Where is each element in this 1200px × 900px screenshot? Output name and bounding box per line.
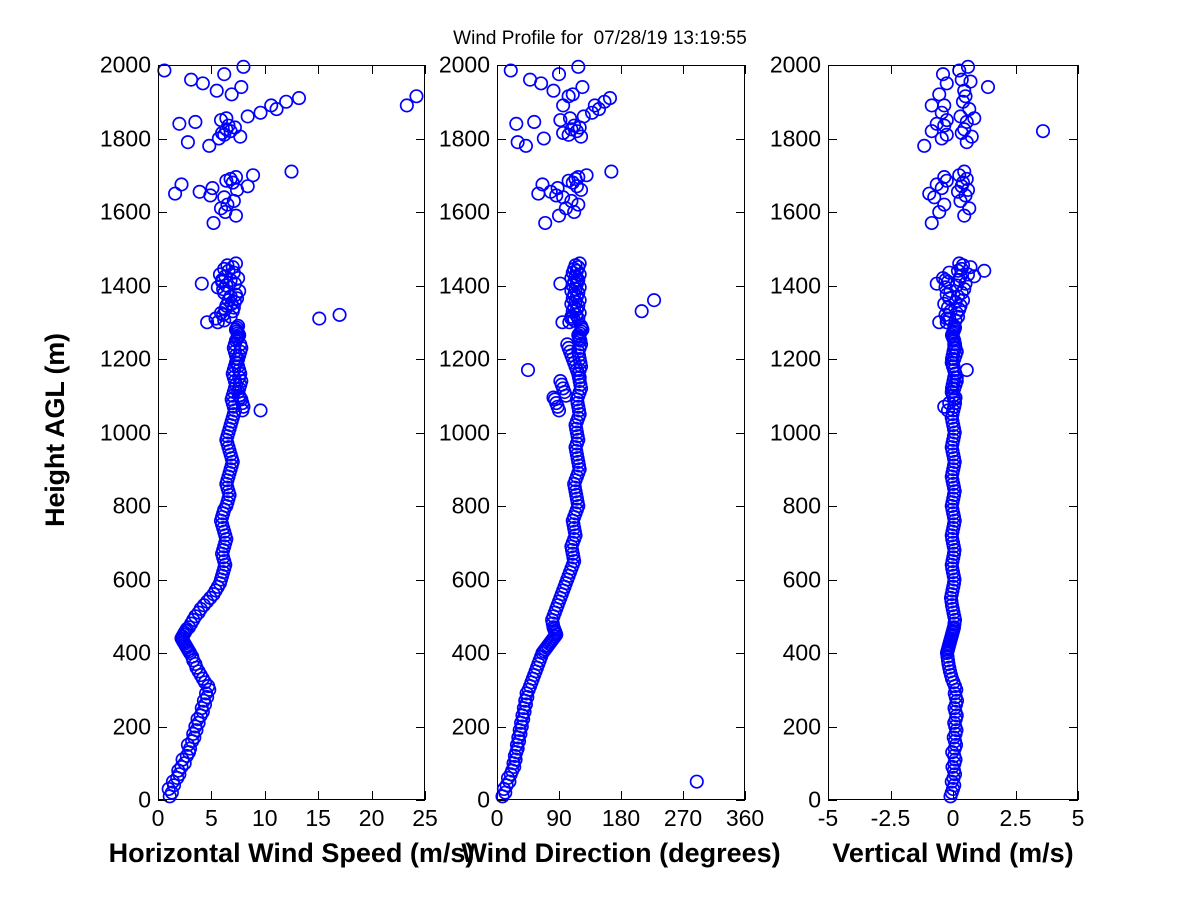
x-axis-label-wind-direction: Wind Direction (degrees) [461,838,780,869]
y-tick-right [736,139,745,140]
data-point [237,61,249,73]
x-tick [953,791,954,800]
data-point [280,96,292,108]
data-point [538,132,550,144]
x-axis-label-horizontal-wind-speed: Horizontal Wind Speed (m/s) [109,838,475,869]
data-point [1037,125,1049,137]
y-tick-label: 0 [138,787,151,814]
data-point [926,99,938,111]
y-tick [158,580,167,581]
y-tick-right [416,727,425,728]
y-tick [158,359,167,360]
y-tick [497,212,506,213]
y-tick [828,800,837,801]
y-tick-label: 200 [452,713,490,740]
y-tick-label: 1000 [439,419,490,446]
y-tick [497,727,506,728]
x-tick [891,791,892,800]
x-tick-top [318,65,319,74]
data-point [539,217,551,229]
y-tick-label: 600 [452,566,490,593]
data-point [185,74,197,86]
y-tick-right [416,139,425,140]
data-point [958,123,970,135]
y-tick-label: 1800 [770,125,821,152]
y-tick [158,65,167,66]
data-point [230,257,242,269]
panel-vertical-wind: Vertical Wind (m/s) 02004006008001000120… [828,65,1078,800]
y-tick-label: 800 [783,493,821,520]
y-tick-right [736,433,745,434]
x-tick-label: 180 [602,805,640,832]
y-tick-label: 1600 [100,199,151,226]
x-tick-top [158,65,159,74]
data-point [505,64,517,76]
data-point [293,92,305,104]
y-tick-label: 1000 [100,419,151,446]
x-tick [745,791,746,800]
data-point [938,171,950,183]
x-tick-top [211,65,212,74]
y-tick-right [416,65,425,66]
y-tick-label: 1200 [100,346,151,373]
x-tick [559,791,560,800]
x-tick [211,791,212,800]
x-tick-label: 2.5 [1000,805,1032,832]
figure-title: Wind Profile for 07/28/19 13:19:55 [0,28,1200,50]
data-point [553,209,565,221]
x-tick-label: 20 [359,805,385,832]
x-tick [683,791,684,800]
x-tick [828,791,829,800]
y-tick-label: 600 [783,566,821,593]
y-tick [828,506,837,507]
y-tick [828,653,837,654]
x-tick-label: 5 [1072,805,1085,832]
y-tick-right [1069,359,1078,360]
y-tick-label: 1400 [439,272,490,299]
y-tick-right [736,212,745,213]
y-tick-label: 400 [783,640,821,667]
y-tick [828,212,837,213]
y-tick [158,286,167,287]
data-point [580,169,592,181]
y-tick [497,65,506,66]
y-tick-label: 1800 [439,125,490,152]
x-tick [372,791,373,800]
data-point [557,99,569,111]
x-tick-top [891,65,892,74]
data-point [333,309,345,321]
y-tick-right [1069,727,1078,728]
x-tick-top [621,65,622,74]
data-point [175,178,187,190]
data-point [189,116,201,128]
data-point [201,595,213,607]
x-tick-top [1016,65,1017,74]
y-tick-right [416,359,425,360]
y-tick [497,506,506,507]
data-point [572,61,584,73]
y-tick-label: 400 [452,640,490,667]
y-tick-label: 600 [113,566,151,593]
x-tick-top [953,65,954,74]
y-tick [828,727,837,728]
x-tick-top [745,65,746,74]
y-tick [828,580,837,581]
y-tick-right [416,286,425,287]
y-tick-label: 2000 [439,52,490,79]
data-point [242,110,254,122]
data-point [926,217,938,229]
data-series-wind-direction [497,65,745,800]
data-point [522,364,534,376]
data-point [169,187,181,199]
y-tick-right [1069,286,1078,287]
y-tick-label: 0 [477,787,490,814]
x-tick-label: 0 [152,805,165,832]
data-point [691,775,703,787]
y-tick [497,653,506,654]
y-tick [158,212,167,213]
data-point [982,81,994,93]
x-tick-top [497,65,498,74]
data-point [211,85,223,97]
y-tick [828,65,837,66]
data-point [173,118,185,130]
y-tick-right [736,286,745,287]
y-tick [158,139,167,140]
data-point [410,90,422,102]
x-tick-top [1078,65,1079,74]
data-point [524,74,536,86]
y-tick-label: 800 [113,493,151,520]
y-tick-right [736,727,745,728]
x-tick-label: 270 [664,805,702,832]
y-tick-label: 1400 [770,272,821,299]
y-tick-right [1069,800,1078,801]
y-tick-right [736,506,745,507]
data-point [182,136,194,148]
y-tick-label: 1200 [439,346,490,373]
y-tick-right [416,580,425,581]
x-tick-top [828,65,829,74]
data-point [285,165,297,177]
y-tick-right [1069,653,1078,654]
data-point [313,312,325,324]
data-point [197,77,209,89]
y-tick-label: 800 [452,493,490,520]
x-tick-label: -5 [818,805,838,832]
x-tick-top [372,65,373,74]
y-tick-right [1069,139,1078,140]
x-tick [158,791,159,800]
y-tick-right [416,653,425,654]
y-tick [497,580,506,581]
y-tick-label: 200 [783,713,821,740]
y-tick [158,727,167,728]
x-tick [318,791,319,800]
y-tick [828,286,837,287]
y-tick-label: 400 [113,640,151,667]
y-tick-label: 1000 [770,419,821,446]
y-tick-label: 2000 [770,52,821,79]
y-tick-right [416,800,425,801]
x-tick-label: 360 [726,805,764,832]
x-axis-label-vertical-wind: Vertical Wind (m/s) [832,838,1073,869]
data-point [206,182,218,194]
x-tick-label: 0 [491,805,504,832]
data-point [918,140,930,152]
x-tick [1016,791,1017,800]
x-tick [621,791,622,800]
y-tick-right [736,359,745,360]
x-tick-label: 0 [947,805,960,832]
y-tick-right [736,65,745,66]
x-tick-label: 90 [546,805,572,832]
data-point [193,186,205,198]
y-tick-label: 1600 [770,199,821,226]
y-tick [828,433,837,434]
wind-profile-figure: Wind Profile for 07/28/19 13:19:55 Heigh… [0,0,1200,900]
data-point [247,169,259,181]
data-point [961,364,973,376]
data-point [510,118,522,130]
x-tick [265,791,266,800]
panel-wind-direction: Wind Direction (degrees) 020040060080010… [497,65,745,800]
y-tick-right [1069,65,1078,66]
data-point [528,116,540,128]
panel-horizontal-wind-speed: Horizontal Wind Speed (m/s) 020040060080… [158,65,425,800]
data-series-vertical-wind [828,65,1078,800]
x-tick-label: 10 [252,805,278,832]
y-tick-right [736,580,745,581]
y-tick-right [1069,506,1078,507]
data-series-horizontal-wind-speed [158,65,425,800]
y-tick-right [736,653,745,654]
y-tick [497,359,506,360]
y-tick [828,359,837,360]
data-point [605,165,617,177]
data-point [635,305,647,317]
x-tick [1078,791,1079,800]
y-tick [158,433,167,434]
data-point [196,277,208,289]
y-tick-right [1069,580,1078,581]
y-tick-right [1069,433,1078,434]
y-tick [497,800,506,801]
data-point [933,88,945,100]
y-tick [497,139,506,140]
y-tick [497,433,506,434]
data-point [158,64,170,76]
y-tick [158,800,167,801]
data-point [547,85,559,97]
x-tick-top [683,65,684,74]
x-tick-top [559,65,560,74]
x-tick-label: -2.5 [871,805,911,832]
y-tick-right [1069,212,1078,213]
data-point [562,90,574,102]
data-point [207,217,219,229]
x-tick-label: 5 [205,805,218,832]
x-tick-label: 15 [305,805,331,832]
y-tick-right [736,800,745,801]
y-tick-right [416,433,425,434]
data-point [218,68,230,80]
y-tick-right [416,506,425,507]
y-tick-label: 1600 [439,199,490,226]
y-tick-label: 1800 [100,125,151,152]
data-point [648,294,660,306]
data-point [401,99,413,111]
y-tick-label: 1400 [100,272,151,299]
y-tick-label: 2000 [100,52,151,79]
data-point [235,81,247,93]
x-tick-label: 25 [412,805,438,832]
y-tick-label: 200 [113,713,151,740]
y-tick [158,653,167,654]
y-tick-right [416,212,425,213]
y-tick [828,139,837,140]
y-axis-label: Height AGL (m) [40,300,74,560]
data-point [964,75,976,87]
x-tick [497,791,498,800]
data-point [554,277,566,289]
data-point [576,81,588,93]
x-tick-top [265,65,266,74]
y-tick [158,506,167,507]
y-tick [497,286,506,287]
y-tick-label: 1200 [770,346,821,373]
x-tick [425,791,426,800]
data-point [254,404,266,416]
x-tick-top [425,65,426,74]
